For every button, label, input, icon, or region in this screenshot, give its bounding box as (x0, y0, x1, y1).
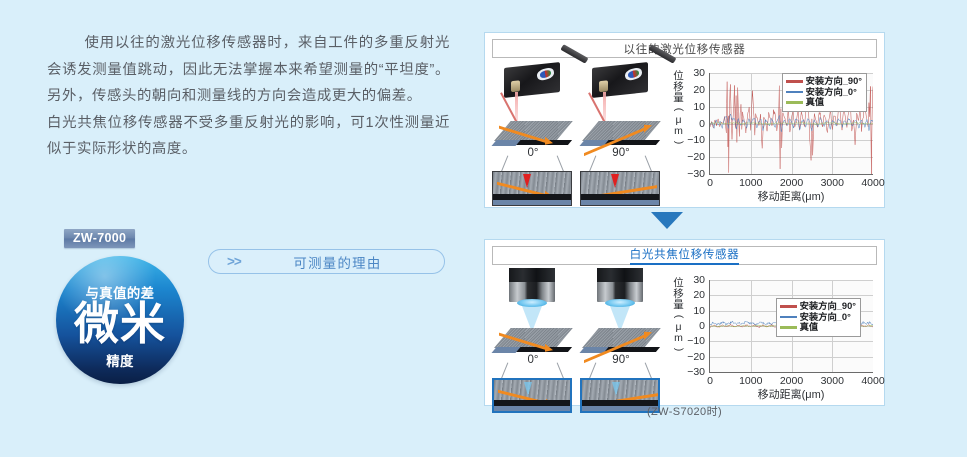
chart-legend: 安装方向_90°安装方向_0°真值 (782, 73, 867, 112)
light-spot-icon (524, 382, 532, 396)
y-axis-title-char: ( (673, 309, 684, 324)
legend-color-swatch (786, 91, 803, 94)
chart-legend-item: 安装方向_90° (786, 76, 862, 87)
chart-y-axis-title: 位移量(μm) (671, 71, 686, 148)
confocal-sensor-head-icon (597, 268, 643, 302)
chart-plot-wrapper: 安装方向_90°安装方向_0°真值 −30−20−100102030010002… (709, 280, 873, 373)
model-badge: ZW-7000 (64, 229, 135, 248)
laser-spot-icon (523, 174, 531, 188)
light-spot-icon (612, 382, 620, 396)
chart-legend-item: 安装方向_0° (786, 87, 862, 98)
head-dark-band (597, 268, 643, 282)
chart-legend-item: 安装方向_0° (780, 312, 856, 323)
legend-color-swatch (786, 101, 803, 104)
chart-legend: 安装方向_90°安装方向_0°真值 (776, 298, 861, 337)
legend-series-label: 真值 (806, 97, 825, 108)
plate-base-blue (581, 200, 659, 205)
chart-legend-item: 安装方向_90° (780, 301, 856, 312)
legend-series-label: 真值 (800, 322, 819, 333)
left-content-column: 使用以往的激光位移传感器时，来自工件的多重反射光会诱发测量值跳动，因此无法掌握本… (0, 0, 480, 457)
legend-color-swatch (780, 326, 797, 329)
chart-y-tick-label: 30 (693, 67, 705, 79)
description-paragraph-1: 使用以往的激光位移传感器时，来自工件的多重反射光会诱发测量值跳动，因此无法掌握本… (47, 30, 450, 110)
sensor-angle-label-0: 0° (492, 354, 574, 366)
description-paragraph-2: 白光共焦位移传感器不受多重反射光的影响，可1次性测量近似于实际形状的高度。 (47, 110, 450, 163)
panel-confocal-caption: (ZW-S7020时) (484, 403, 885, 419)
chart-legend-item: 真值 (780, 322, 856, 333)
chart-y-tick-label: 20 (693, 289, 705, 301)
y-axis-title-char: ) (673, 135, 684, 150)
plate-base-blue (493, 200, 571, 205)
panel-legacy-title: 以往的激光位移传感器 (492, 39, 877, 58)
workpiece-plate (494, 328, 570, 354)
receiver-window (624, 66, 643, 81)
legend-color-swatch (780, 305, 797, 308)
zoom-detail-box-0deg (492, 171, 572, 206)
chart-y-tick-label: 10 (693, 101, 705, 113)
chart-x-axis-title: 移动距离(μm) (709, 386, 873, 402)
confocal-sensor-head-icon (509, 268, 555, 302)
illustration-legacy-laser: 0° 90° (491, 59, 666, 205)
measurable-reason-button[interactable]: >> 可测量的理由 (208, 249, 445, 274)
plate-edge-blue (491, 347, 520, 353)
y-axis-title-char: ) (673, 342, 684, 357)
circle-bottom-label: 精度 (56, 350, 184, 370)
legend-color-swatch (780, 316, 797, 319)
chart-y-tick-label: −20 (687, 151, 705, 163)
chart-legacy-displacement: 位移量(μm) 安装方向_90°安装方向_0°真值 −30−20−1001020… (671, 59, 879, 205)
chart-plot-wrapper: 安装方向_90°安装方向_0°真值 −30−20−100102030010002… (709, 73, 873, 175)
workpiece-plate (582, 121, 658, 147)
chevron-right-double-icon: >> (227, 254, 257, 269)
emitter-lens (511, 80, 520, 92)
chart-y-tick-label: 20 (693, 84, 705, 96)
description-text-block: 使用以往的激光位移传感器时，来自工件的多重反射光会诱发测量值跳动，因此无法掌握本… (47, 30, 450, 163)
laser-sensor-head-icon (504, 62, 560, 98)
panel-confocal-sensor: 白光共焦位移传感器 0° (484, 239, 885, 406)
chart-y-tick-label: 10 (693, 305, 705, 317)
chart-legend-item: 真值 (786, 97, 862, 108)
zoom-detail-box-90deg (580, 171, 660, 206)
measurable-reason-label: 可测量的理由 (257, 252, 444, 272)
plate-edge-blue (491, 140, 520, 146)
legend-color-swatch (786, 80, 803, 83)
chart-confocal-displacement: 位移量(μm) 安装方向_90°安装方向_0°真值 −30−20−1001020… (671, 266, 879, 403)
chart-y-tick-label: −10 (687, 335, 705, 347)
panel-confocal-title: 白光共焦位移传感器 (492, 246, 877, 265)
head-dark-band (509, 268, 555, 282)
laser-sensor-head-icon (592, 62, 648, 98)
sensor-angle-label-90: 90° (580, 354, 662, 366)
workpiece-plate (494, 121, 570, 147)
chart-y-axis-title: 位移量(μm) (671, 278, 686, 355)
circle-main-label: 微米 (56, 296, 184, 352)
chart-x-axis-title: 移动距离(μm) (709, 188, 873, 204)
chart-y-tick-label: 0 (699, 320, 705, 332)
illustration-confocal: 0° 90° (491, 266, 666, 403)
chart-y-tick-label: −10 (687, 134, 705, 146)
workpiece-plate (582, 328, 658, 354)
legend-series-label: 安装方向_90° (800, 301, 856, 312)
sensor-angle-label-90: 90° (580, 147, 662, 159)
legend-series-label: 安装方向_0° (800, 312, 851, 323)
chart-y-tick-label: −20 (687, 351, 705, 363)
legend-series-label: 安装方向_90° (806, 76, 862, 87)
chart-y-tick-label: −30 (687, 168, 705, 180)
chart-y-tick-label: 0 (699, 118, 705, 130)
legend-series-label: 安装方向_0° (806, 87, 857, 98)
sensor-angle-label-0: 0° (492, 147, 574, 159)
chart-y-tick-label: 30 (693, 274, 705, 286)
emitter-lens (599, 80, 608, 92)
triangle-down-icon (651, 212, 683, 229)
chart-y-tick-label: −30 (687, 366, 705, 378)
receiver-window (536, 66, 555, 81)
laser-spot-icon (611, 174, 619, 188)
panel-legacy-laser-sensor: 以往的激光位移传感器 0° (484, 32, 885, 208)
accuracy-highlight-circle: 与真值的差 微米 精度 (56, 256, 184, 384)
y-axis-title-char: ( (673, 102, 684, 117)
